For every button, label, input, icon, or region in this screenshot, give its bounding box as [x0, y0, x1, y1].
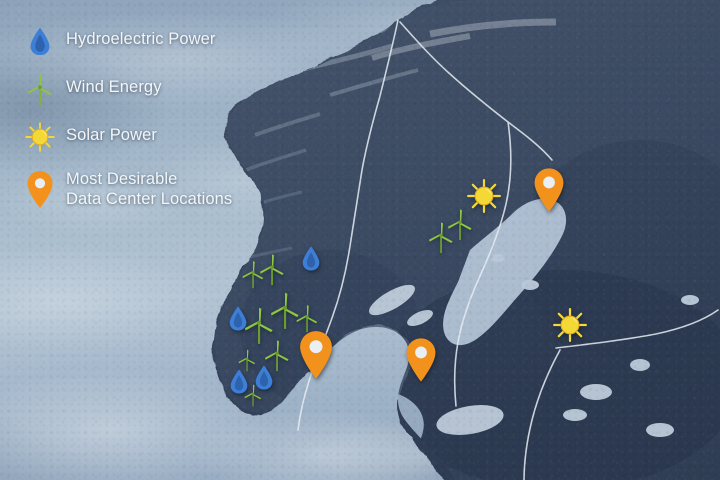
legend-label-datacenter: Most Desirable Data Center Locations — [66, 168, 232, 209]
wind-turbine-icon — [22, 72, 58, 106]
legend-item-solar[interactable]: Solar Power — [22, 120, 232, 154]
legend-label-solar: Solar Power — [66, 120, 157, 145]
map-pin-icon[interactable] — [401, 336, 441, 385]
legend-item-hydro[interactable]: Hydroelectric Power — [22, 24, 232, 58]
sun-icon[interactable] — [465, 177, 503, 215]
wind-turbine-icon[interactable] — [255, 252, 289, 286]
legend: Hydroelectric Power Wind Energy — [22, 24, 232, 214]
map-screenshot: Hydroelectric Power Wind Energy — [0, 0, 720, 480]
map-pin-icon[interactable] — [294, 328, 338, 382]
water-drop-icon — [22, 24, 58, 58]
wind-turbine-icon[interactable] — [260, 338, 294, 372]
legend-item-wind[interactable]: Wind Energy — [22, 72, 232, 106]
wind-turbine-icon[interactable] — [241, 383, 265, 407]
map-pin-icon[interactable] — [529, 166, 569, 215]
map-pin-icon — [22, 168, 58, 214]
wind-turbine-icon[interactable] — [235, 348, 259, 372]
legend-label-hydro: Hydroelectric Power — [66, 24, 216, 49]
sun-icon[interactable] — [551, 306, 589, 344]
legend-label-wind: Wind Energy — [66, 72, 162, 97]
sun-icon — [22, 120, 58, 154]
legend-item-datacenter[interactable]: Most Desirable Data Center Locations — [22, 168, 232, 214]
water-drop-icon[interactable] — [296, 243, 326, 273]
